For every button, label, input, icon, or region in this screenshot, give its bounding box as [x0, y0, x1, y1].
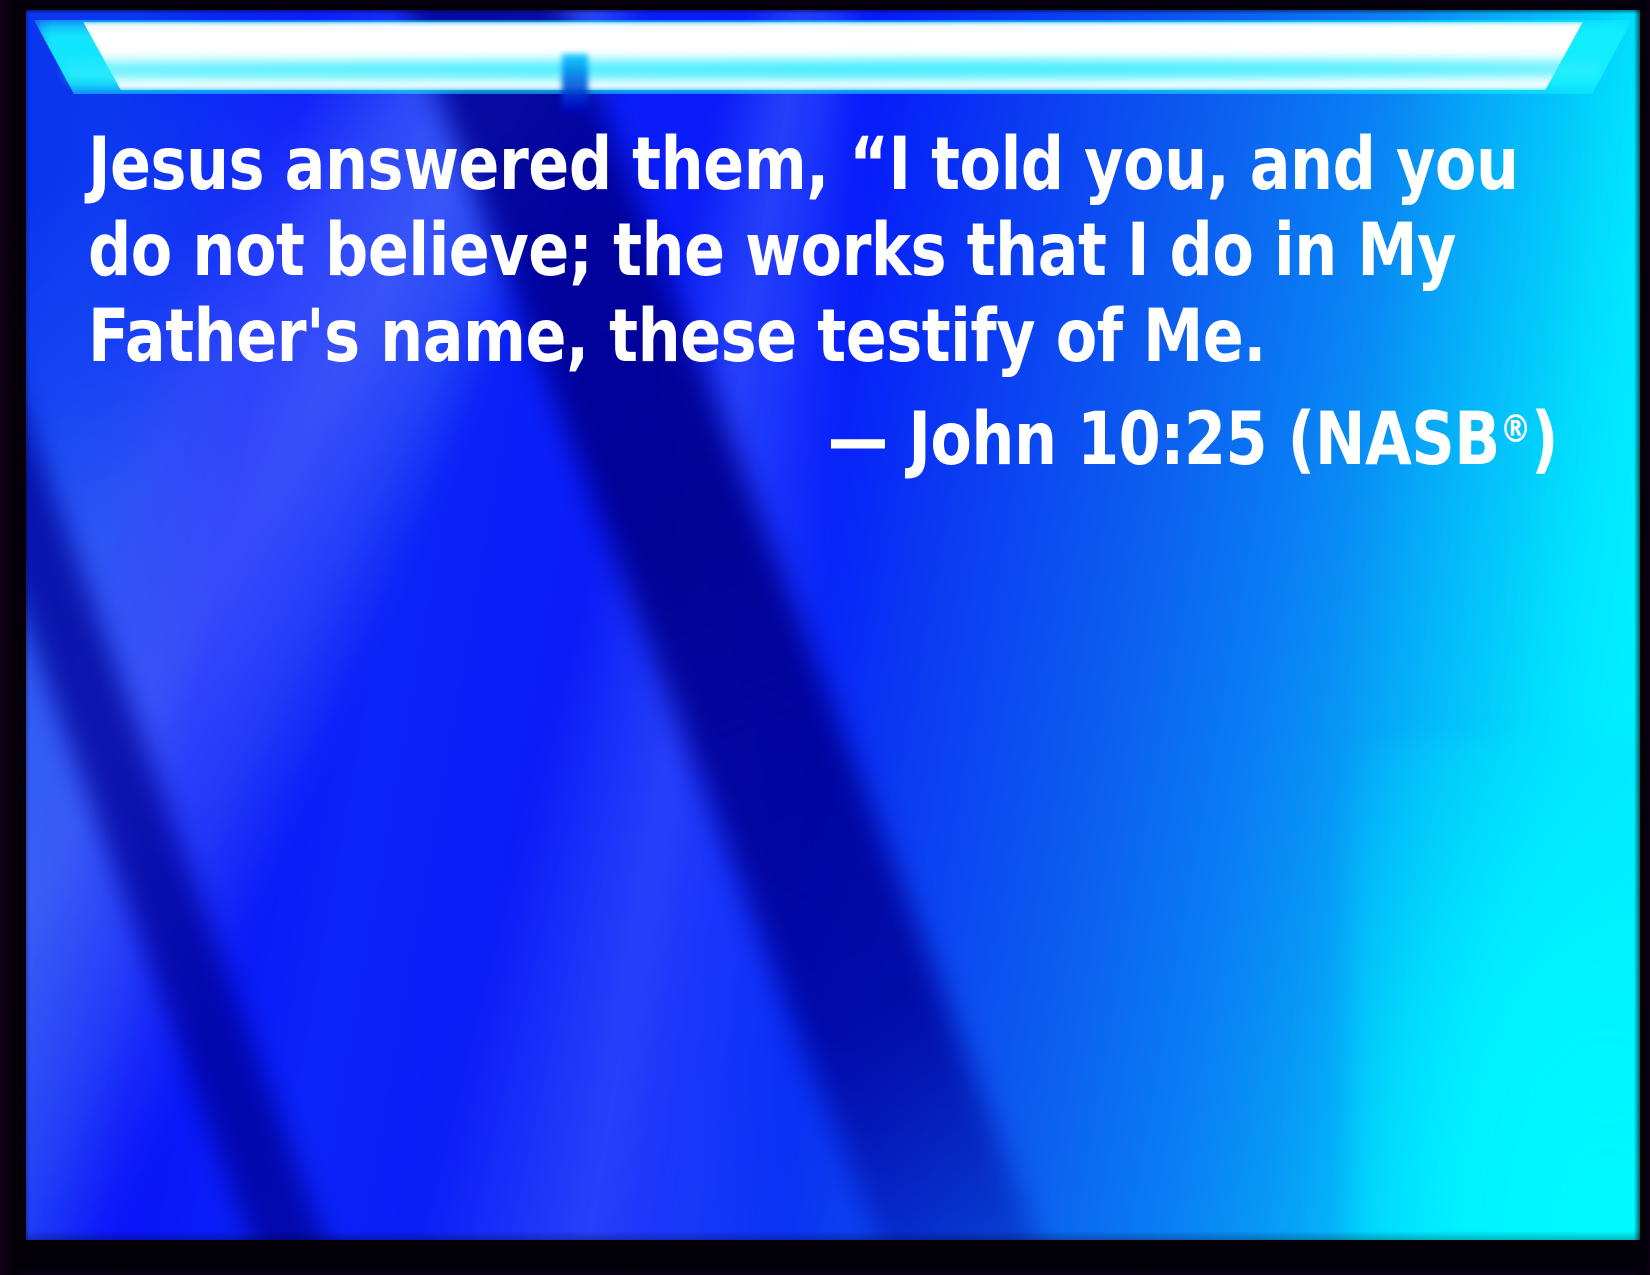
- registered-trademark-icon: ®: [1500, 407, 1531, 451]
- attribution-spacer-2: [1267, 397, 1288, 482]
- attribution-reference: John 10:25: [908, 397, 1267, 482]
- verse-slide: Jesus answered them, “I told you, and yo…: [0, 0, 1650, 1275]
- verse-text-block: Jesus answered them, “I told you, and yo…: [88, 122, 1558, 483]
- attribution-close-paren: ): [1531, 397, 1558, 482]
- verse-line-2: do not believe; the works that I do in M…: [88, 208, 1440, 294]
- attribution-open-paren: (: [1288, 397, 1315, 482]
- background-cyan-core-glow: [1350, 740, 1640, 1240]
- verse-line-1: Jesus answered them, “I told you, and yo…: [88, 122, 1440, 208]
- verse-line-3: Father's name, these testify of Me.: [88, 294, 1440, 380]
- slide-canvas: Jesus answered them, “I told you, and yo…: [26, 10, 1640, 1240]
- verse-attribution: — John 10:25 (NASB®): [206, 386, 1558, 483]
- attribution-spacer-1: [888, 397, 909, 482]
- attribution-dash: —: [828, 397, 888, 482]
- attribution-translation: NASB: [1315, 397, 1500, 482]
